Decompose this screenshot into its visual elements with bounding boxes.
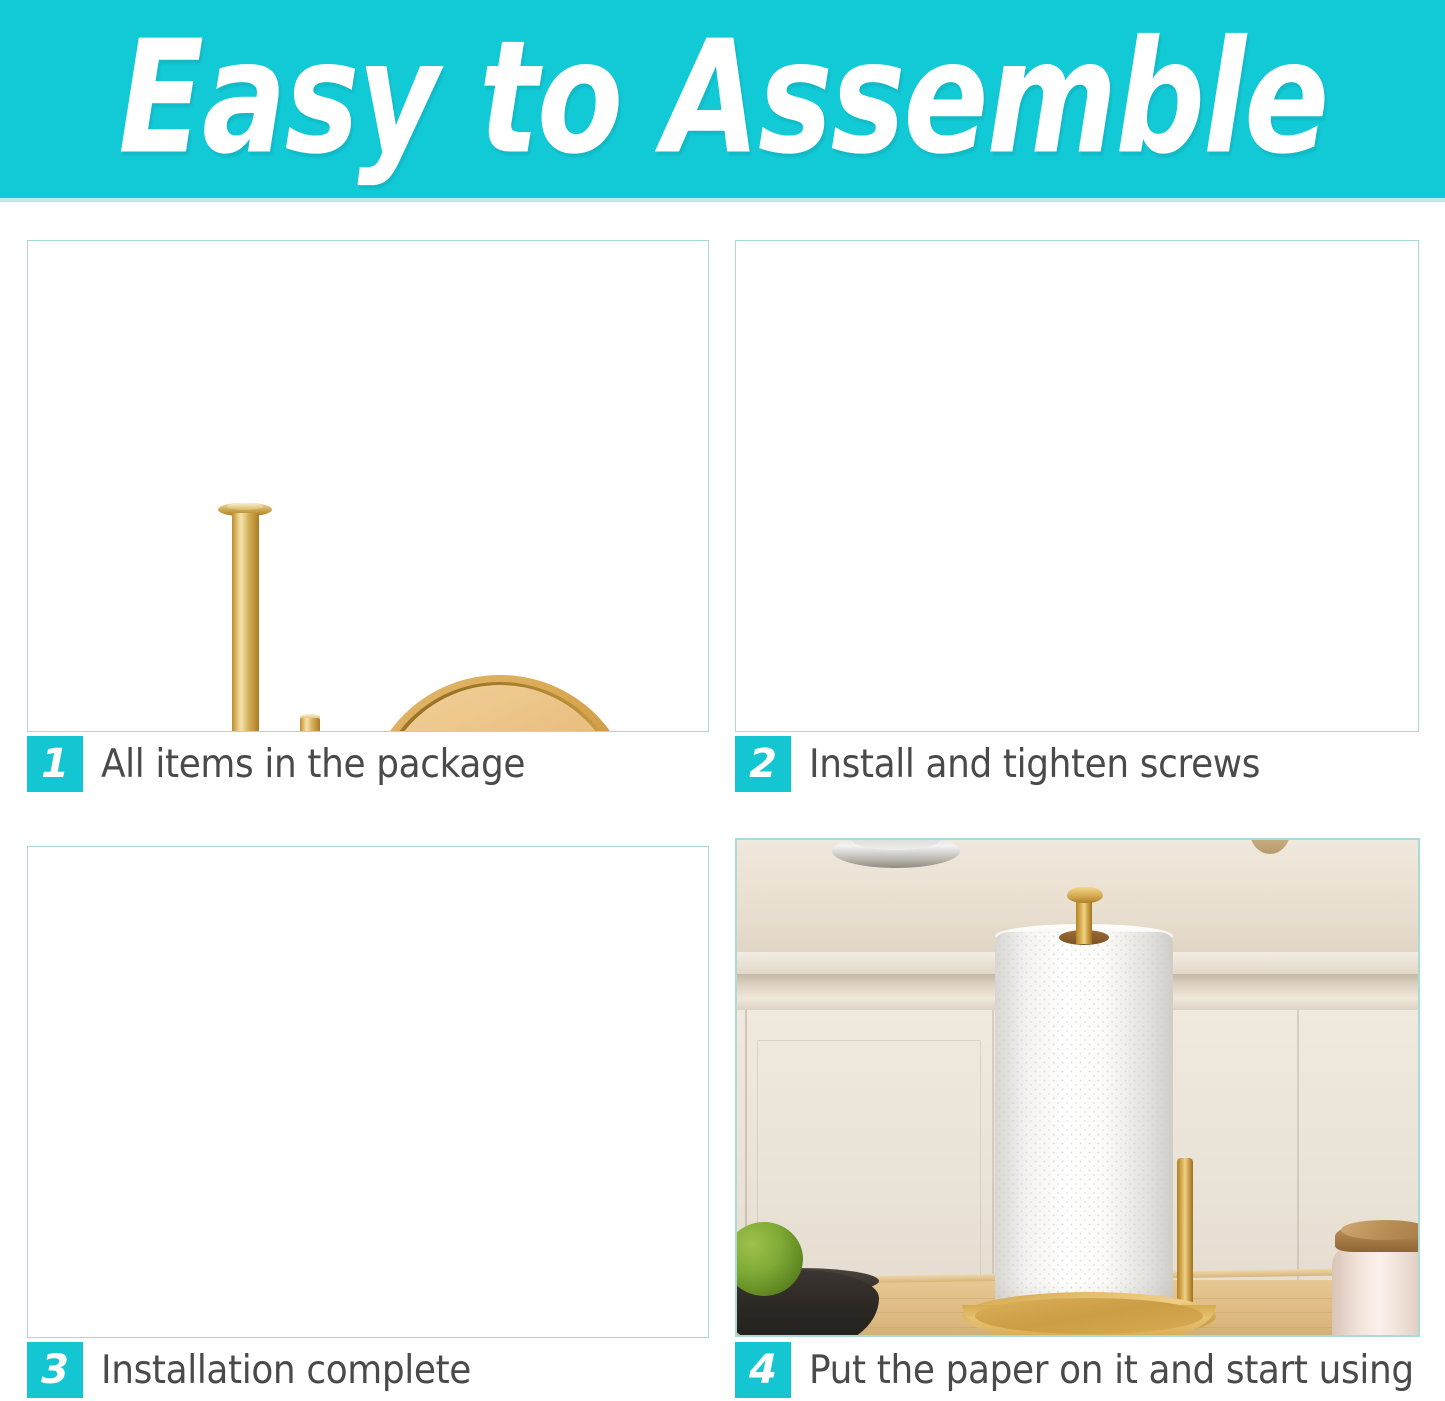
holder-base-inner	[975, 1298, 1203, 1334]
header-banner: Easy to Assemble	[0, 0, 1445, 198]
cabinet-seam	[992, 1010, 994, 1310]
step-1-illustration-panel	[27, 240, 709, 732]
step-2-caption: 2 Install and tighten screws	[735, 735, 1299, 793]
holder-spindle-cap-icon	[1067, 887, 1103, 903]
step-2-illustration-panel	[735, 240, 1419, 732]
step-number-badge: 1	[27, 736, 83, 792]
step-caption-label: Installation complete	[101, 1348, 471, 1393]
step-number-badge: 2	[735, 736, 791, 792]
cabinet-seam	[1297, 1010, 1299, 1310]
long-rod-cap-face-icon	[227, 503, 263, 510]
page-title: Easy to Assemble	[118, 21, 1327, 177]
holder-side-rod	[1177, 1158, 1193, 1320]
infographic-page: Easy to Assemble	[0, 0, 1445, 1401]
long-center-rod-part	[232, 513, 259, 732]
kitchen-scene-photo	[737, 840, 1418, 1335]
paper-towel-texture	[995, 932, 1173, 1322]
step-4-caption: 4 Put the paper on it and start using	[735, 1341, 1445, 1399]
step-3-illustration-panel	[27, 846, 709, 1338]
step-4-photo-panel	[735, 838, 1420, 1337]
holder-spindle	[1076, 896, 1092, 944]
step-1-caption: 1 All items in the package	[27, 735, 562, 793]
step-3-caption: 3 Installation complete	[27, 1341, 503, 1399]
step-number-badge: 4	[735, 1342, 791, 1398]
header-underline	[0, 198, 1445, 202]
ceramic-jar	[1332, 1240, 1418, 1335]
step-caption-label: Put the paper on it and start using	[809, 1348, 1414, 1393]
step-caption-label: Install and tighten screws	[809, 742, 1260, 787]
step-caption-label: All items in the package	[101, 742, 525, 787]
step-number-badge: 3	[27, 1342, 83, 1398]
short-side-rod-part	[300, 718, 320, 732]
